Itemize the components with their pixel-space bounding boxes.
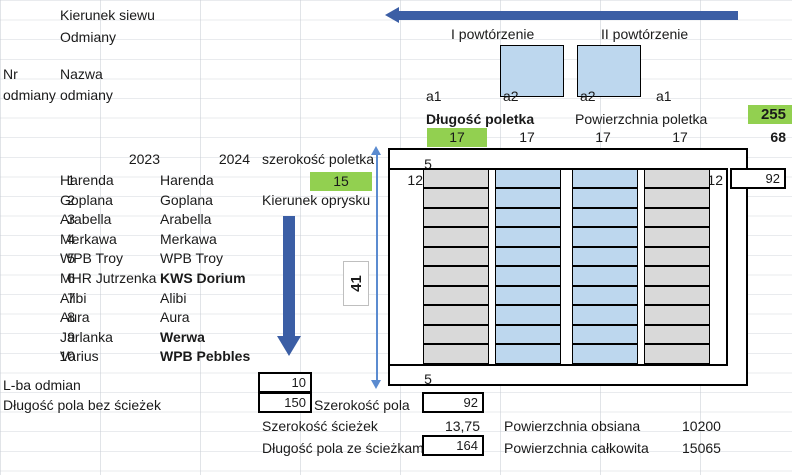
label-a2-left: a2: [503, 89, 519, 103]
plot-cell: [572, 266, 638, 286]
plot-cell: [644, 188, 710, 208]
plot-cell: [423, 247, 489, 267]
value-bottom-gap-5: 5: [398, 370, 458, 389]
sowing-direction-arrow-head: [385, 7, 399, 23]
value-dlugosc-pola-ze-sciezkami-box: 164: [422, 435, 484, 456]
variety-name-2023: Varius: [60, 348, 99, 364]
label-szerokosc-poletka: szerokość poletka: [262, 152, 374, 166]
plot-cell: [644, 169, 710, 189]
label-repetition-2: II powtórzenie: [601, 27, 688, 41]
variety-name-2024: Goplana: [160, 192, 213, 208]
value-powierzchnia-poletka-sum: 255: [748, 105, 792, 124]
value-dlugosc-pola-bez-sciezek-box: 150: [258, 392, 312, 413]
value-szerokosc-poletka: 15: [310, 172, 372, 191]
plot-cell: [423, 227, 489, 247]
variety-name-2023: Merkawa: [60, 231, 117, 247]
value-powierzchnia-calkowita: 15065: [682, 441, 721, 455]
plot-cell: [423, 266, 489, 286]
label-nr-odmiany-line2: odmiany: [3, 88, 56, 102]
plot-cell: [495, 286, 561, 306]
variety-name-2024: Harenda: [160, 172, 214, 188]
label-odmiany: Odmiany: [60, 30, 116, 44]
variety-name-2024: Werwa: [160, 329, 205, 345]
plot-cell: [644, 247, 710, 267]
value-left-margin-12: 12: [395, 171, 423, 190]
plot-cell: [572, 344, 638, 364]
value-length-17-a: 17: [427, 128, 487, 147]
spreadsheet-canvas: Kierunek siewu Odmiany Nr odmiany Nazwa …: [0, 0, 792, 475]
label-szerokosc-pola: Szerokość pola: [314, 398, 410, 412]
label-lba-odmian: L-ba odmian: [3, 378, 81, 392]
plot-cell: [572, 325, 638, 345]
plot-cell: [495, 188, 561, 208]
variety-name-2023: Arabella: [60, 211, 111, 227]
plot-cell: [572, 208, 638, 228]
value-dlugosc-pola-bez-sciezek: 150: [284, 395, 306, 410]
plot-cell: [572, 247, 638, 267]
plot-cell: [495, 247, 561, 267]
header-year-2023: 2023: [100, 152, 160, 166]
variety-name-2023: Jarlanka: [60, 329, 113, 345]
spray-direction-arrow-head: [277, 336, 301, 356]
variety-name-2024: Merkawa: [160, 231, 217, 247]
plot-cell: [495, 325, 561, 345]
plot-cell: [644, 325, 710, 345]
plot-cell: [644, 227, 710, 247]
value-length-17-d: 17: [650, 128, 710, 147]
plot-cell: [572, 188, 638, 208]
variety-name-2024: Aura: [160, 309, 190, 325]
label-dlugosc-pola-bez-sciezek: Długość pola bez ścieżek: [3, 398, 161, 412]
label-a1-right: a1: [656, 89, 672, 103]
variety-name-2023: Aura: [60, 309, 90, 325]
variety-name-2023: MHR Jutrzenka: [60, 270, 156, 286]
plot-cell: [495, 227, 561, 247]
field-width-41-box: 41: [343, 261, 369, 306]
label-nr-odmiany-line1: Nr: [3, 67, 18, 81]
plot-cell: [495, 208, 561, 228]
value-field-width-92: 92: [766, 171, 780, 186]
plot-cell: [423, 169, 489, 189]
plot-cell: [644, 286, 710, 306]
plot-cell: [644, 208, 710, 228]
plot-cell: [423, 188, 489, 208]
sowing-direction-arrow-shaft: [398, 11, 738, 20]
label-dlugosc-pola-ze-sciezkami: Długość pola ze ścieżkami: [262, 441, 427, 455]
plot-cell: [423, 208, 489, 228]
plot-cell: [423, 286, 489, 306]
field-height-measure-line: [376, 152, 378, 382]
plot-cell: [644, 266, 710, 286]
label-powierzchnia-obsiana: Powierzchnia obsiana: [504, 419, 640, 433]
value-powierzchnia-obsiana: 10200: [682, 419, 721, 433]
plot-cell: [572, 227, 638, 247]
label-kierunek-siewu: Kierunek siewu: [60, 8, 155, 22]
plot-cell: [572, 305, 638, 325]
label-a1-left: a1: [426, 89, 442, 103]
value-szerokosc-sciezek: 13,75: [422, 419, 480, 433]
plot-cell: [572, 169, 638, 189]
plot-cell: [495, 305, 561, 325]
plot-cell: [495, 169, 561, 189]
variety-name-2023: Harenda: [60, 172, 114, 188]
variety-name-2024: WPB Troy: [160, 250, 223, 266]
label-dlugosc-poletka: Długość poletka: [426, 112, 534, 126]
value-szerokosc-pola-box: 92: [422, 392, 484, 413]
field-height-measure-arrow-bottom: [371, 380, 381, 389]
value-lba-odmian-box: 10: [258, 372, 312, 393]
spray-direction-arrow-shaft: [283, 216, 295, 338]
plot-cell: [495, 266, 561, 286]
label-a2-right: a2: [580, 89, 596, 103]
label-szerokosc-sciezek: Szerokość ścieżek: [262, 419, 378, 433]
field-height-measure-arrow-top: [371, 146, 381, 155]
value-68: 68: [748, 128, 792, 147]
plot-cell: [495, 344, 561, 364]
plot-cell: [423, 325, 489, 345]
label-nazwa-odmiany-line1: Nazwa: [60, 67, 103, 81]
label-kierunek-oprysku: Kierunek oprysku: [262, 193, 370, 207]
value-field-width-92-box: 92: [730, 168, 786, 189]
plot-cell: [572, 286, 638, 306]
plot-cell: [423, 305, 489, 325]
value-lba-odmian: 10: [292, 375, 306, 390]
label-powierzchnia-calkowita: Powierzchnia całkowita: [504, 441, 649, 455]
variety-name-2023: WPB Troy: [60, 250, 123, 266]
label-repetition-1: I powtórzenie: [451, 27, 534, 41]
value-41: 41: [348, 275, 365, 292]
plot-cell: [423, 344, 489, 364]
variety-name-2024: WPB Pebbles: [160, 348, 250, 364]
header-year-2024: 2024: [190, 152, 250, 166]
value-dlugosc-pola-ze-sciezkami: 164: [456, 438, 478, 453]
variety-name-2023: Alibi: [60, 290, 86, 306]
variety-name-2023: Goplana: [60, 192, 113, 208]
label-powierzchnia-poletka: Powierzchnia poletka: [575, 112, 707, 126]
value-length-17-c: 17: [573, 128, 633, 147]
variety-name-2024: Arabella: [160, 211, 211, 227]
plot-cell: [644, 305, 710, 325]
plot-cell: [644, 344, 710, 364]
value-length-17-b: 17: [497, 128, 557, 147]
label-nazwa-odmiany-line2: odmiany: [60, 88, 113, 102]
variety-name-2024: KWS Dorium: [160, 270, 246, 286]
variety-name-2024: Alibi: [160, 290, 186, 306]
value-szerokosc-pola: 92: [464, 395, 478, 410]
